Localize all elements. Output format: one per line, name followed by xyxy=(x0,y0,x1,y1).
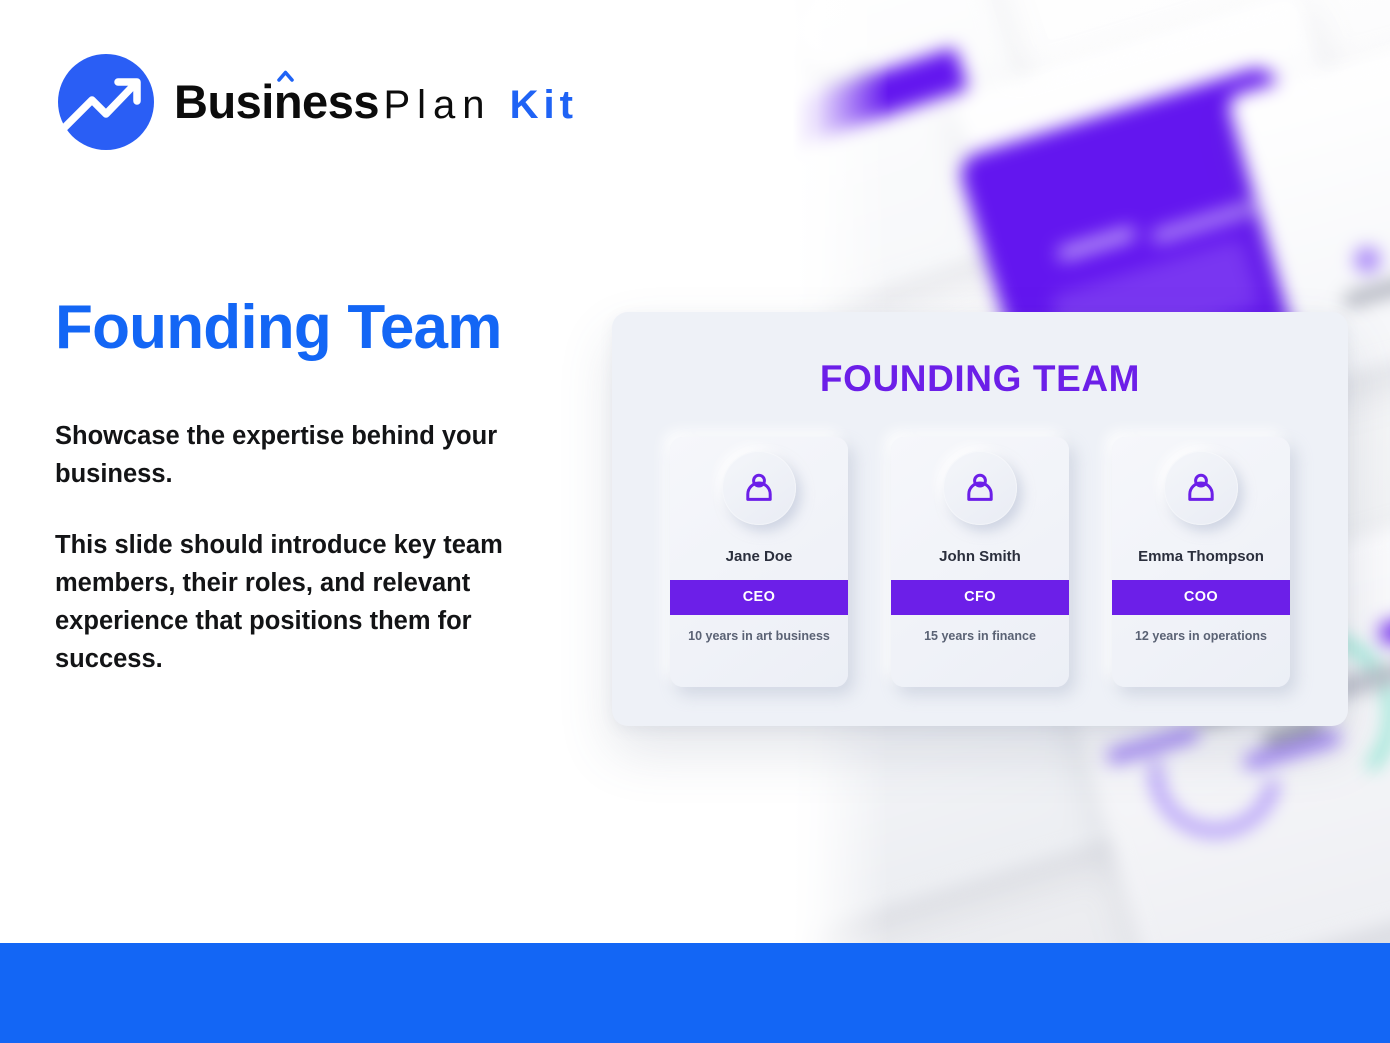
team-member-card[interactable]: John Smith CFO 15 years in finance xyxy=(891,437,1069,687)
team-member-role-badge: CEO xyxy=(670,580,848,615)
brand-name-line1: Business xyxy=(174,75,379,128)
team-member-card[interactable]: Emma Thompson COO 12 years in operations xyxy=(1112,437,1290,687)
slide-preview-title: FOUNDING TEAM xyxy=(612,358,1348,400)
brand-name-plan: Plan xyxy=(383,83,509,127)
team-member-experience: 12 years in operations xyxy=(1127,629,1275,645)
brand-logo[interactable]: Business Plan Kit xyxy=(56,52,578,152)
team-member-role-badge: CFO xyxy=(891,580,1069,615)
page-description: Showcase the expertise behind your busin… xyxy=(55,418,575,679)
chevron-up-accent-icon xyxy=(277,69,294,81)
team-member-list: Jane Doe CEO 10 years in art business Jo… xyxy=(670,437,1290,687)
slide-preview-card[interactable]: FOUNDING TEAM Jane Doe CEO 10 years in a… xyxy=(612,312,1348,726)
page-title: Founding Team xyxy=(55,296,502,360)
team-member-card[interactable]: Jane Doe CEO 10 years in art business xyxy=(670,437,848,687)
avatar xyxy=(943,451,1017,525)
background-text-block xyxy=(1378,606,1390,646)
footer-bar xyxy=(0,943,1390,1043)
background-text-block xyxy=(1343,276,1390,309)
brand-name-line2: Plan Kit xyxy=(383,83,578,127)
team-member-name: Emma Thompson xyxy=(1138,549,1264,566)
team-member-experience: 10 years in art business xyxy=(680,629,838,645)
person-icon xyxy=(1184,471,1218,505)
brand-name-kit: Kit xyxy=(510,83,578,127)
avatar xyxy=(1164,451,1238,525)
team-member-experience: 15 years in finance xyxy=(916,629,1044,645)
team-member-role-badge: COO xyxy=(1112,580,1290,615)
description-paragraph-2: This slide should introduce key team mem… xyxy=(55,527,575,679)
person-icon xyxy=(963,471,997,505)
team-member-name: Jane Doe xyxy=(726,549,793,566)
trend-arrow-circle-icon xyxy=(56,52,156,152)
avatar xyxy=(722,451,796,525)
background-dot-shape xyxy=(1351,244,1383,276)
slide-canvas: Business Plan Kit Founding Team Showcase… xyxy=(0,0,1390,1043)
team-member-name: John Smith xyxy=(939,549,1021,566)
person-icon xyxy=(742,471,776,505)
description-paragraph-1: Showcase the expertise behind your busin… xyxy=(55,418,575,494)
brand-wordmark: Business Plan Kit xyxy=(174,78,578,126)
